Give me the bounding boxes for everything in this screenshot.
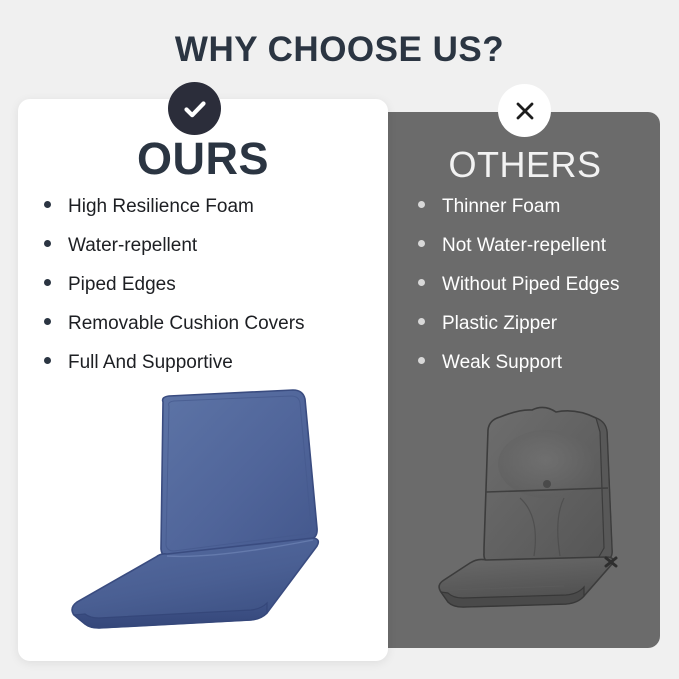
check-badge bbox=[168, 82, 221, 135]
list-item: Piped Edges bbox=[44, 274, 374, 313]
check-icon bbox=[180, 94, 210, 124]
ours-heading: OURS bbox=[18, 136, 388, 182]
bullet-icon bbox=[418, 318, 425, 325]
page-title: WHY CHOOSE US? bbox=[0, 30, 679, 70]
feature-label: Full And Supportive bbox=[68, 352, 233, 374]
ours-product-image bbox=[55, 388, 325, 638]
list-item: Not Water-repellent bbox=[418, 235, 668, 274]
others-heading: OTHERS bbox=[360, 142, 679, 188]
close-icon bbox=[512, 98, 538, 124]
feature-label: Water-repellent bbox=[68, 235, 197, 257]
bullet-icon bbox=[44, 279, 51, 286]
bullet-icon bbox=[418, 279, 425, 286]
list-item: Thinner Foam bbox=[418, 196, 668, 235]
feature-label: Removable Cushion Covers bbox=[68, 313, 305, 335]
bullet-icon bbox=[418, 201, 425, 208]
list-item: Removable Cushion Covers bbox=[44, 313, 374, 352]
bullet-icon bbox=[44, 201, 51, 208]
ours-feature-list: High Resilience Foam Water-repellent Pip… bbox=[44, 196, 374, 391]
feature-label: Plastic Zipper bbox=[442, 313, 557, 335]
comparison-infographic: WHY CHOOSE US? bbox=[0, 0, 679, 679]
list-item: Without Piped Edges bbox=[418, 274, 668, 313]
others-feature-list: Thinner Foam Not Water-repellent Without… bbox=[418, 196, 668, 391]
feature-label: Weak Support bbox=[442, 352, 562, 374]
bullet-icon bbox=[44, 240, 51, 247]
feature-label: Piped Edges bbox=[68, 274, 176, 296]
feature-label: High Resilience Foam bbox=[68, 196, 254, 218]
x-badge bbox=[498, 84, 551, 137]
feature-label: Thinner Foam bbox=[442, 196, 560, 218]
list-item: Water-repellent bbox=[44, 235, 374, 274]
bullet-icon bbox=[418, 240, 425, 247]
bullet-icon bbox=[44, 318, 51, 325]
others-product-image bbox=[436, 398, 661, 633]
list-item: Full And Supportive bbox=[44, 352, 374, 391]
feature-label: Without Piped Edges bbox=[442, 274, 619, 296]
list-item: Plastic Zipper bbox=[418, 313, 668, 352]
list-item: High Resilience Foam bbox=[44, 196, 374, 235]
list-item: Weak Support bbox=[418, 352, 668, 391]
feature-label: Not Water-repellent bbox=[442, 235, 606, 257]
bullet-icon bbox=[44, 357, 51, 364]
bullet-icon bbox=[418, 357, 425, 364]
